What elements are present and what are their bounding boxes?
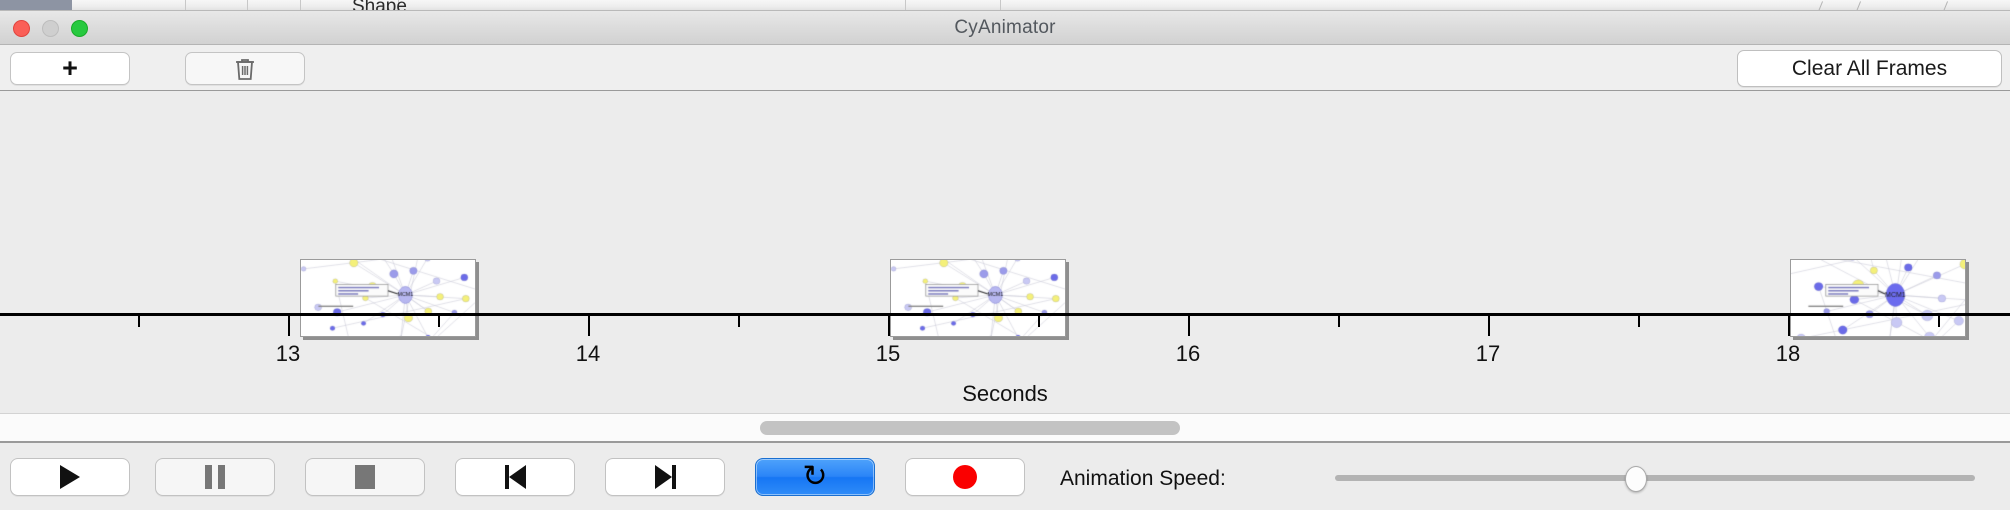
- background-seam: [905, 0, 906, 11]
- transport-bar: ↻ Animation Speed:: [0, 445, 2010, 510]
- axis-tick-minor: [738, 316, 740, 327]
- stop-icon: [355, 465, 375, 489]
- record-button[interactable]: [905, 458, 1025, 496]
- background-seam: [300, 0, 301, 11]
- background-seam: [1000, 0, 1001, 11]
- axis-tick-minor: [438, 316, 440, 327]
- axis-tick-major: [1488, 316, 1490, 336]
- pause-icon: [205, 465, 225, 489]
- axis-tick-major: [288, 316, 290, 336]
- background-seam: [247, 0, 248, 11]
- trash-icon: [234, 57, 256, 81]
- animation-speed-label: Animation Speed:: [1060, 467, 1226, 491]
- frame-toolbar: + Clear All Frames: [0, 45, 2010, 91]
- axis-tick-minor: [1038, 316, 1040, 327]
- background-tab: [0, 0, 72, 11]
- loop-icon: ↻: [802, 462, 827, 492]
- axis-tick-label: 16: [1176, 341, 1200, 367]
- play-icon: [60, 465, 80, 489]
- pause-button[interactable]: [155, 458, 275, 496]
- play-button[interactable]: [10, 458, 130, 496]
- background-seam: [185, 0, 186, 11]
- add-frame-button[interactable]: +: [10, 52, 130, 85]
- axis-tick-minor: [138, 316, 140, 327]
- animation-speed-slider-track[interactable]: [1335, 475, 1975, 481]
- window-title: CyAnimator: [0, 11, 2010, 45]
- axis-title: Seconds: [0, 381, 2010, 407]
- stop-button[interactable]: [305, 458, 425, 496]
- axis-tick-major: [588, 316, 590, 336]
- animation-speed-slider-thumb[interactable]: [1625, 466, 1647, 492]
- network-preview-image: [301, 260, 475, 336]
- clear-all-frames-button[interactable]: Clear All Frames: [1737, 50, 2002, 87]
- axis-tick-major: [1788, 316, 1790, 336]
- axis-tick-major: [888, 316, 890, 336]
- timeline-axis: [0, 313, 2010, 316]
- axis-tick-minor: [1338, 316, 1340, 327]
- background-mark: [1856, 1, 1861, 11]
- timeline-panel[interactable]: 12131415161718 Seconds: [0, 91, 2010, 413]
- axis-tick-label: 15: [876, 341, 900, 367]
- loop-button[interactable]: ↻: [755, 458, 875, 496]
- skip-back-icon: [505, 465, 526, 489]
- plus-icon: +: [62, 55, 78, 82]
- title-bar: CyAnimator: [0, 11, 2010, 45]
- axis-tick-label: 14: [576, 341, 600, 367]
- background-mark: [1943, 1, 1948, 11]
- frame-thumbnail-1[interactable]: [300, 259, 476, 337]
- record-icon: [953, 465, 977, 489]
- delete-frame-button[interactable]: [185, 52, 305, 85]
- clear-all-frames-label: Clear All Frames: [1792, 57, 1947, 81]
- axis-tick-label: 18: [1776, 341, 1800, 367]
- axis-tick-label: 13: [276, 341, 300, 367]
- cyanimator-window: Shape CyAnimator + Clear All Frames: [0, 0, 2010, 510]
- axis-tick-minor: [1638, 316, 1640, 327]
- axis-tick-minor: [1938, 316, 1940, 327]
- next-frame-button[interactable]: [605, 458, 725, 496]
- background-app-label: Shape: [352, 0, 407, 11]
- axis-tick-major: [1188, 316, 1190, 336]
- background-mark: [1818, 1, 1823, 11]
- skip-forward-icon: [655, 465, 676, 489]
- timeline-scrollbar[interactable]: [0, 413, 2010, 443]
- scrollbar-thumb[interactable]: [760, 421, 1180, 435]
- axis-tick-label: 17: [1476, 341, 1500, 367]
- background-window-strip: Shape: [0, 0, 2010, 11]
- previous-frame-button[interactable]: [455, 458, 575, 496]
